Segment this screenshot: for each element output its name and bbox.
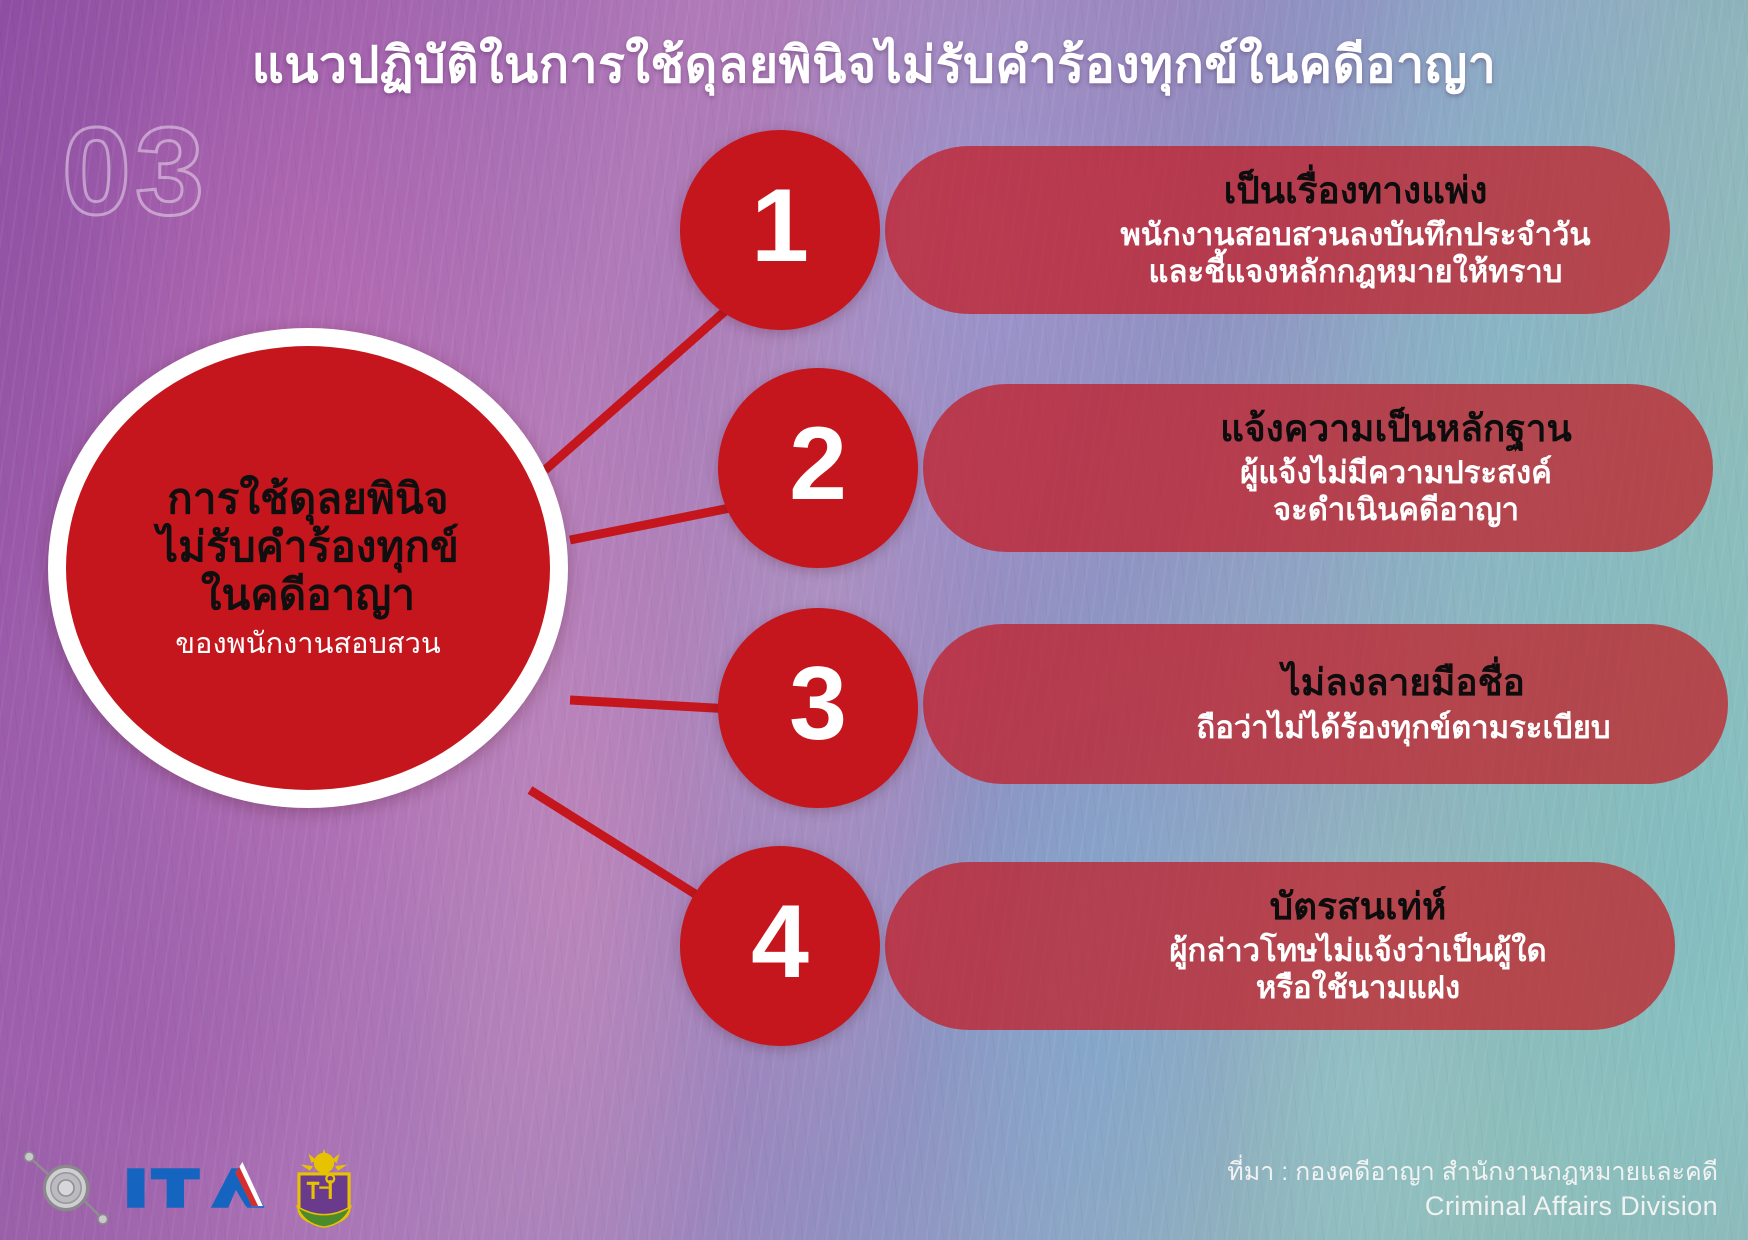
item-3-desc-line-1: ถือว่าไม่ได้ร้องทุกข์ตามระเบียบ xyxy=(1196,709,1610,746)
ita-logo xyxy=(124,1157,274,1219)
footer-source-english: Criminal Affairs Division xyxy=(1227,1189,1718,1224)
item-3-bar: ไม่ลงลายมือชื่อ ถือว่าไม่ได้ร้องทุกข์ตาม… xyxy=(923,624,1728,784)
item-1-desc-line-1: พนักงานสอบสวนลงบันทึกประจำวัน xyxy=(1120,216,1590,253)
royal-thai-police-crest-logo xyxy=(288,1148,360,1228)
item-2-number: 2 xyxy=(789,412,847,516)
item-3-number: 3 xyxy=(789,652,847,756)
item-2-number-circle: 2 xyxy=(718,368,918,568)
footer-source: ที่มา : กองคดีอาญา สำนักงานกฎหมายและคดี … xyxy=(1227,1156,1718,1224)
item-2-desc-line-1: ผู้แจ้งไม่มีความประสงค์ xyxy=(1240,454,1552,491)
item-1-desc-line-2: และชี้แจงหลักกฎหมายให้ทราบ xyxy=(1149,253,1563,290)
item-4-number: 4 xyxy=(751,890,809,994)
item-1-heading: เป็นเรื่องทางแพ่ง xyxy=(1224,170,1488,213)
hub-title-line-3: ในคดีอาญา xyxy=(157,571,459,619)
item-4-bar: บัตรสนเท่ห์ ผู้กล่าวโทษไม่แจ้งว่าเป็นผู้… xyxy=(885,862,1675,1030)
central-hub: การใช้ดุลยพินิจ ไม่รับคำร้องทุกข์ ในคดีอ… xyxy=(48,328,568,808)
item-1-number: 1 xyxy=(751,174,809,278)
item-2-desc-line-2: จะดำเนินคดีอาญา xyxy=(1273,491,1519,528)
item-3-number-circle: 3 xyxy=(718,608,918,808)
item-1-bar: เป็นเรื่องทางแพ่ง พนักงานสอบสวนลงบันทึกป… xyxy=(885,146,1670,314)
item-3-heading: ไม่ลงลายมือชื่อ xyxy=(1282,662,1525,705)
footer-logos xyxy=(22,1148,360,1228)
infographic-canvas: 03 แนวปฏิบัติในการใช้ดุลยพินิจไม่รับคำร้… xyxy=(0,0,1748,1240)
item-4-desc-line-1: ผู้กล่าวโทษไม่แจ้งว่าเป็นผู้ใด xyxy=(1169,932,1546,969)
item-1-number-circle: 1 xyxy=(680,130,880,330)
hub-title-line-2: ไม่รับคำร้องทุกข์ xyxy=(157,523,459,571)
footer-source-thai: ที่มา : กองคดีอาญา สำนักงานกฎหมายและคดี xyxy=(1227,1156,1718,1189)
hub-subtitle: ของพนักงานสอบสวน xyxy=(175,629,441,661)
item-4-desc-line-2: หรือใช้นามแฝง xyxy=(1256,969,1460,1006)
list-item[interactable]: บัตรสนเท่ห์ ผู้กล่าวโทษไม่แจ้งว่าเป็นผู้… xyxy=(680,846,1510,1046)
item-4-heading: บัตรสนเท่ห์ xyxy=(1270,886,1447,929)
list-item[interactable]: ไม่ลงลายมือชื่อ ถือว่าไม่ได้ร้องทุกข์ตาม… xyxy=(718,608,1548,808)
item-2-bar: แจ้งความเป็นหลักฐาน ผู้แจ้งไม่มีความประส… xyxy=(923,384,1713,552)
hub-title: การใช้ดุลยพินิจ ไม่รับคำร้องทุกข์ ในคดีอ… xyxy=(157,475,459,619)
hub-title-line-1: การใช้ดุลยพินิจ xyxy=(157,475,459,523)
item-4-number-circle: 4 xyxy=(680,846,880,1046)
list-item[interactable]: แจ้งความเป็นหลักฐาน ผู้แจ้งไม่มีความประส… xyxy=(718,368,1548,568)
item-2-heading: แจ้งความเป็นหลักฐาน xyxy=(1220,408,1572,451)
list-item[interactable]: เป็นเรื่องทางแพ่ง พนักงานสอบสวนลงบันทึกป… xyxy=(680,130,1500,330)
police-seal-logo xyxy=(22,1149,110,1227)
